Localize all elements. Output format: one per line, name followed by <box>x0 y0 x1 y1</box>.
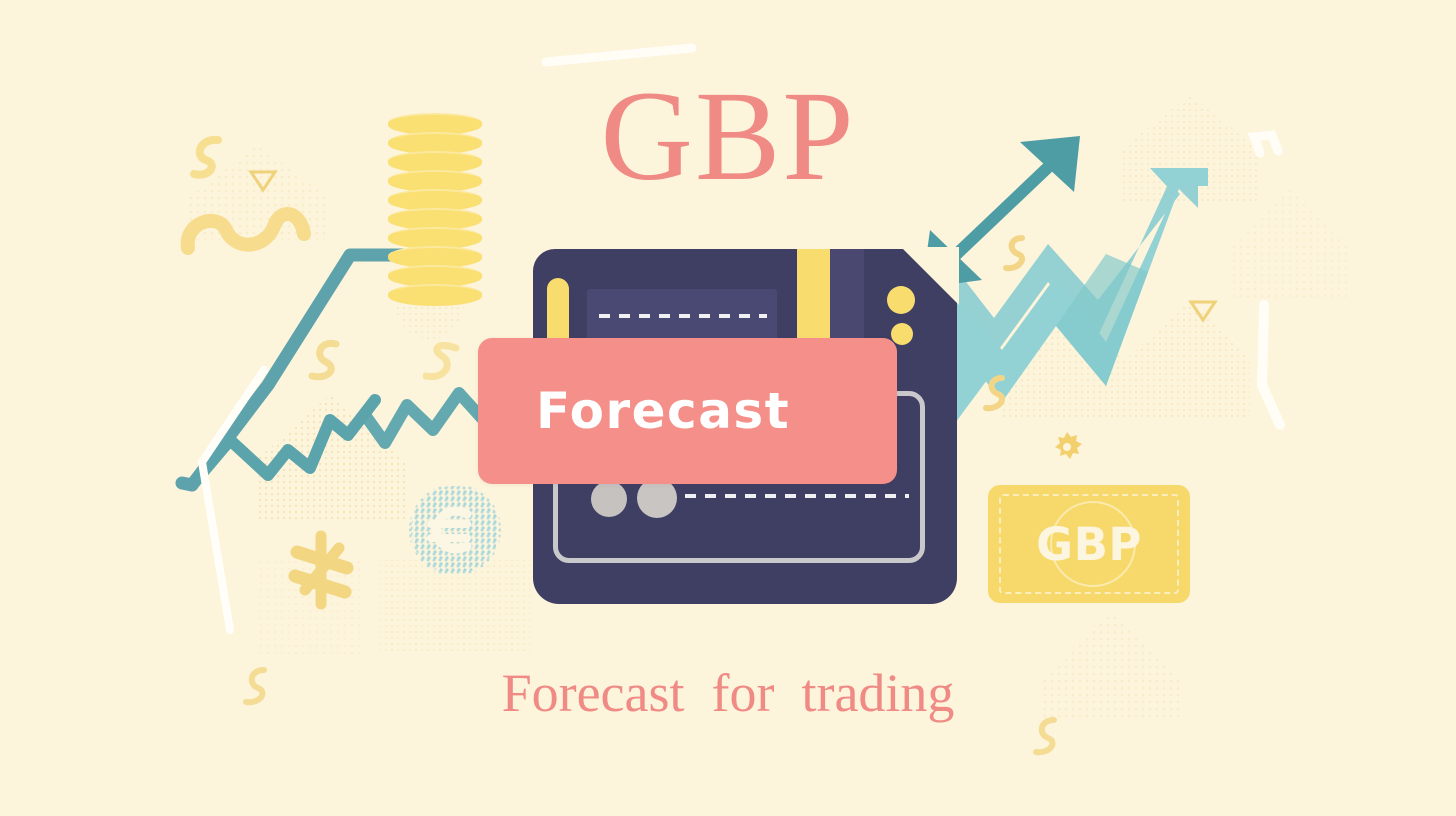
card-chip-right <box>637 478 677 518</box>
banknote-label: GBP <box>988 518 1190 571</box>
card-number-dashes <box>685 494 909 498</box>
card-light-stripe <box>830 249 864 349</box>
illustration-canvas: GBP Forecast GBP Forecast for trading <box>0 0 1456 816</box>
card-chip-left <box>591 481 627 517</box>
page-title: GBP <box>0 72 1456 200</box>
pound-squiggle-mid2 <box>412 336 472 396</box>
card-corner-cut <box>901 247 959 305</box>
euro-badge <box>409 484 501 576</box>
gbp-banknote: GBP <box>988 485 1190 603</box>
pound-squiggle-right <box>978 368 1018 418</box>
pound-squiggle-mid <box>298 330 358 390</box>
card-yellow-stripe <box>797 249 830 349</box>
card-screen-dashes <box>599 314 767 318</box>
triangle-outline-right <box>1188 298 1218 324</box>
page-caption: Forecast for trading <box>0 666 1456 720</box>
pound-squiggle-card <box>998 228 1038 278</box>
forecast-banner-label: Forecast <box>536 382 790 440</box>
forecast-banner[interactable]: Forecast <box>478 338 897 484</box>
card-button-small[interactable] <box>891 323 913 345</box>
white-stroke-left <box>190 360 310 650</box>
dollar-sign-glyph <box>277 524 367 614</box>
pound-squiggle-wave <box>178 190 318 260</box>
line-chart-zigzag <box>170 235 500 495</box>
flower-mark <box>1050 430 1084 464</box>
